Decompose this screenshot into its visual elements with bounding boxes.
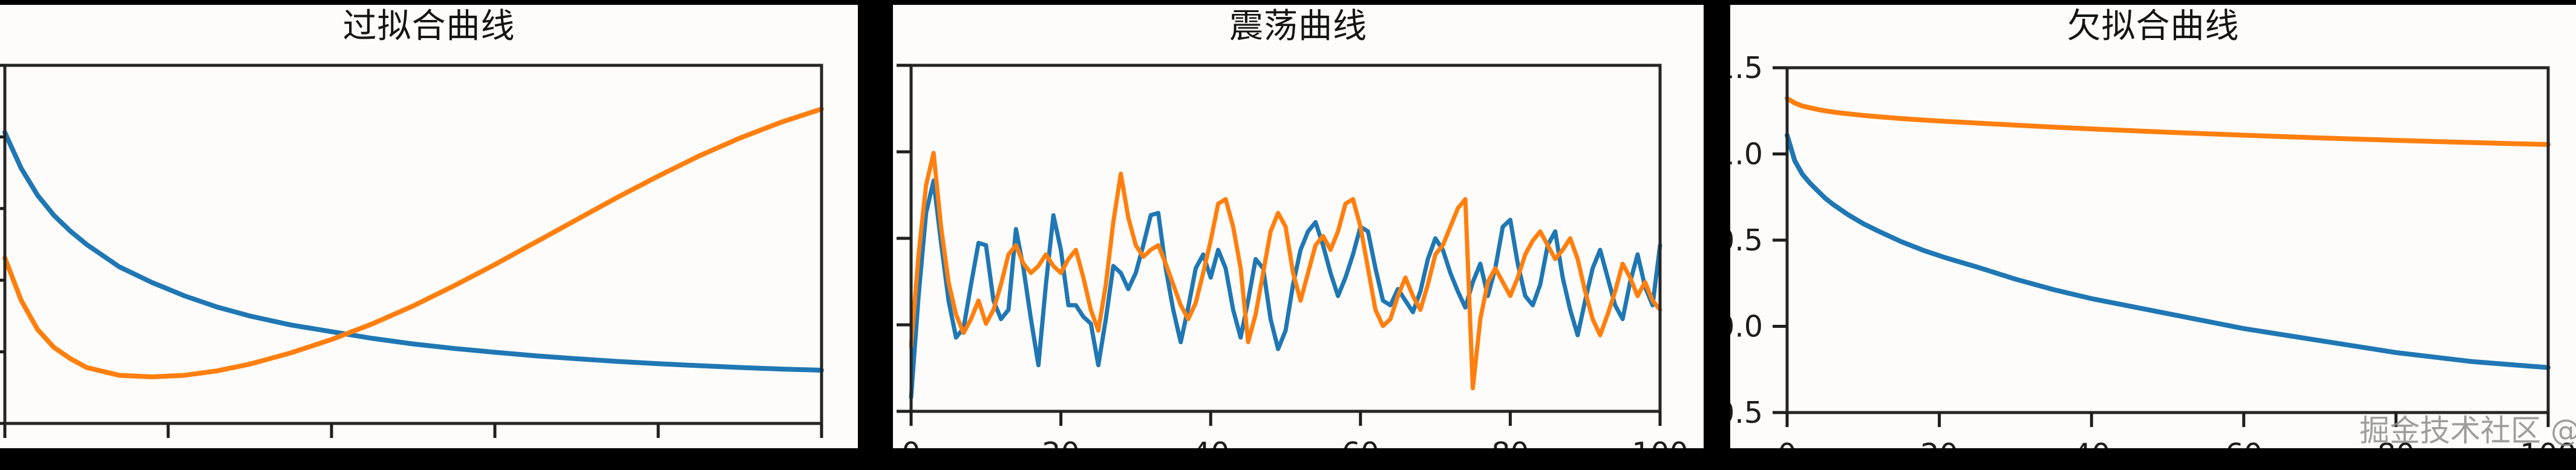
- svg-text:0.0: 0.0: [1730, 310, 1763, 344]
- watermark-text: 掘金技术社区 @ 大模型真好玩: [2359, 406, 2576, 450]
- svg-text:0.5: 0.5: [1730, 396, 1763, 430]
- plot-area-underfitting: 0204060801000.50.00.51.01.5: [1730, 0, 2576, 470]
- bottom-letterbox-bar: [0, 448, 2576, 470]
- panel-overfitting: 过拟合曲线: [0, 0, 858, 470]
- plot-area-overfitting: [0, 0, 858, 470]
- plot-area-oscillating: 020406080100: [893, 0, 1704, 470]
- figure-canvas: 过拟合曲线 震荡曲线 020406080100 欠拟合曲线 0204060801…: [0, 0, 2576, 470]
- top-letterbox-bar: [0, 0, 2576, 5]
- svg-text:1.0: 1.0: [1730, 137, 1763, 172]
- panel-divider-1: [858, 0, 893, 470]
- svg-text:1.5: 1.5: [1730, 51, 1763, 85]
- panel-underfitting: 欠拟合曲线 0204060801000.50.00.51.01.5 掘金技术社区…: [1730, 0, 2576, 470]
- panel-oscillating: 震荡曲线 020406080100: [893, 0, 1704, 470]
- panel-divider-2: [1704, 0, 1730, 470]
- svg-text:0.5: 0.5: [1730, 223, 1763, 258]
